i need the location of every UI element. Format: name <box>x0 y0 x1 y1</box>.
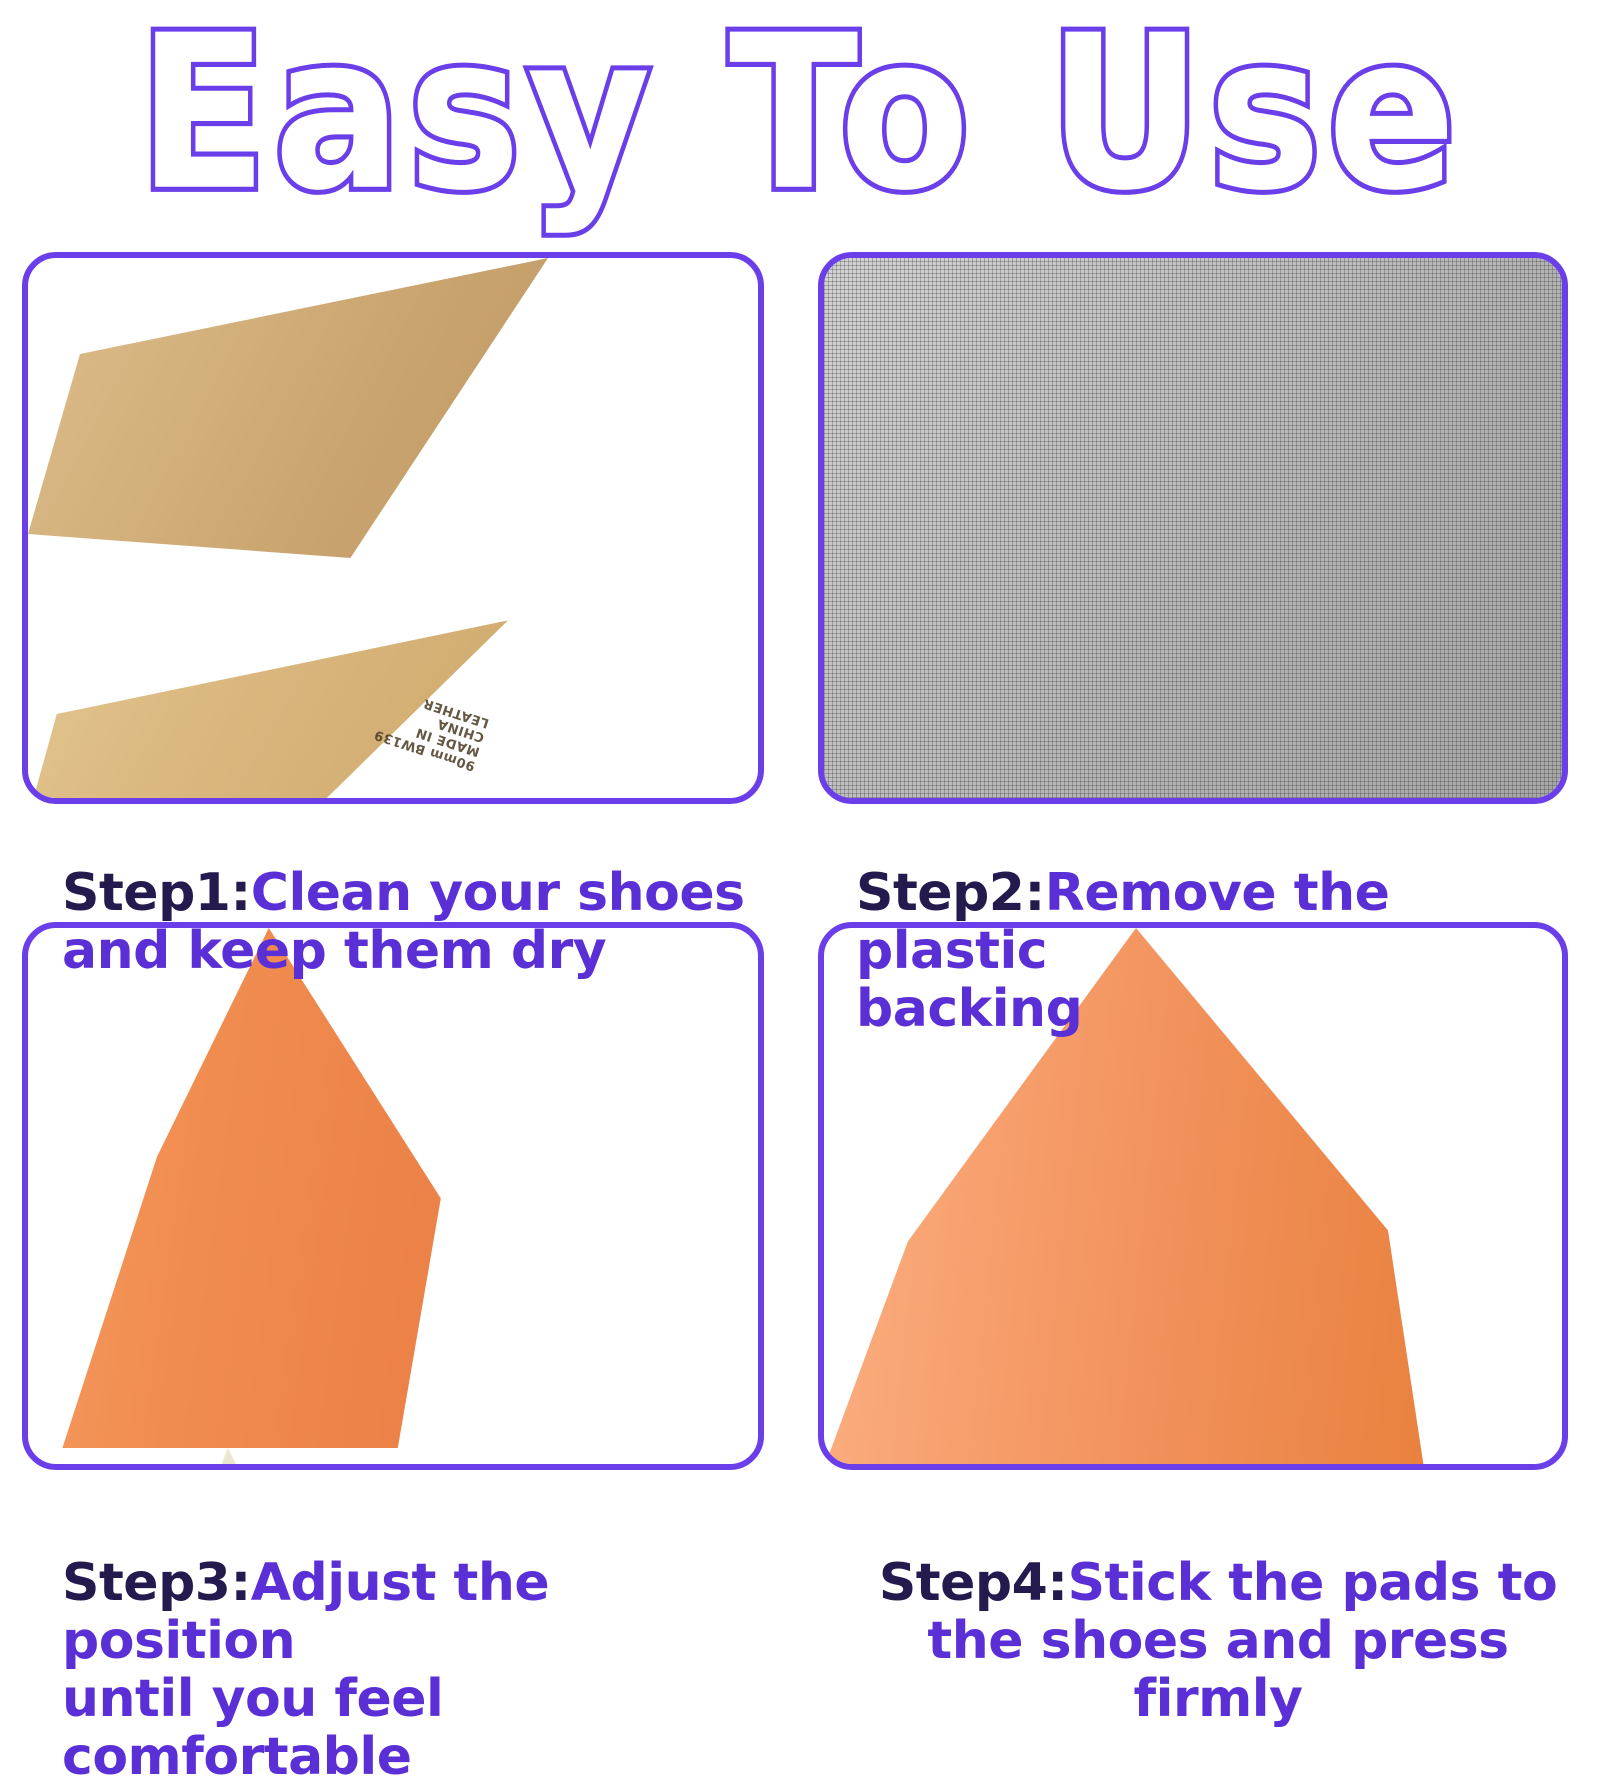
step-4-caption: Step4:Stick the pads to the shoes and pr… <box>848 1496 1588 1728</box>
shoe-orange-upper <box>28 928 458 1448</box>
step-1-photo: 90mm BW139 MADE IN CHINA LEATHER CRISTIN… <box>28 258 758 798</box>
shoe-gold-edge <box>28 558 508 804</box>
step-3-key: Step3: <box>62 1553 251 1613</box>
page-title: Easy To Use <box>138 8 1462 221</box>
step-2-caption: Step2:Remove the plastic backing <box>856 806 1586 1038</box>
step-3-photo-panel <box>22 922 764 1470</box>
shoe-size-label: 90mm BW139 MADE IN CHINA LEATHER <box>368 673 494 774</box>
page-title-bar: Easy To Use <box>0 0 1600 228</box>
step-3-photo <box>28 928 758 1464</box>
step-2-photo-panel: 90mm B MADE IN LEATHER INOSA <box>818 252 1568 804</box>
step-2-photo: 90mm B MADE IN LEATHER INOSA <box>824 258 1562 798</box>
shoe-inner-lining <box>28 1448 398 1470</box>
step-1-key: Step1: <box>62 863 251 923</box>
step-1-caption: Step1:Clean your shoes and keep them dry <box>62 806 762 980</box>
step-3-caption: Step3:Adjust the position until you feel… <box>62 1496 762 1786</box>
step-1-photo-panel: 90mm BW139 MADE IN CHINA LEATHER CRISTIN… <box>22 252 764 804</box>
step-2-key: Step2: <box>856 863 1045 923</box>
shoe-inner-lining <box>28 258 548 558</box>
step-4-key: Step4: <box>879 1553 1068 1613</box>
shoe-inner-lining <box>824 1468 1364 1470</box>
